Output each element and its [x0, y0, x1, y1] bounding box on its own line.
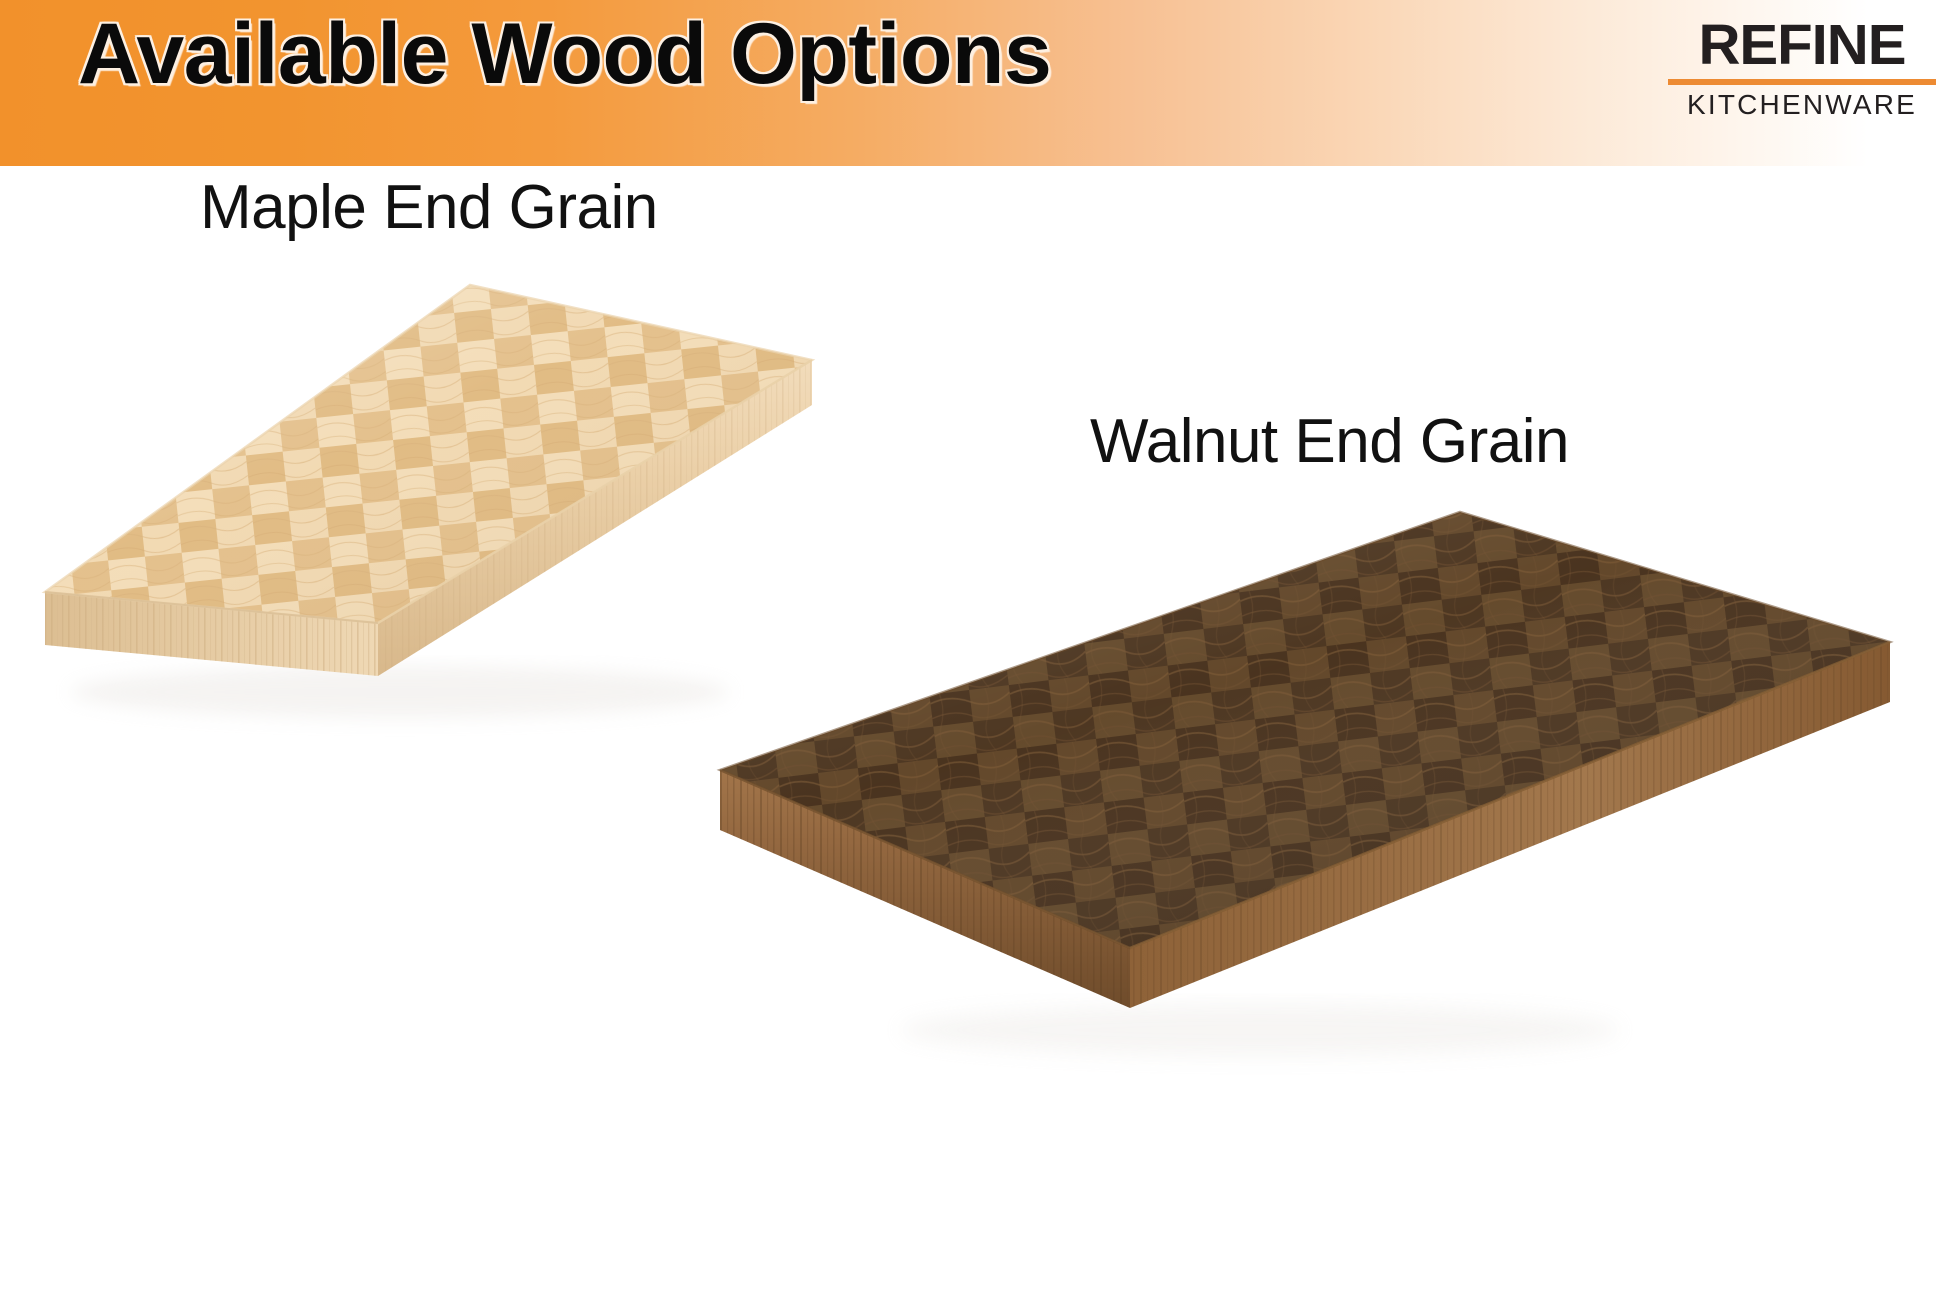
page-title: Available Wood Options	[78, 8, 1051, 101]
logo-divider-rule	[1668, 79, 1936, 85]
maple-product-label: Maple End Grain	[200, 172, 658, 243]
logo-tagline-text: KITCHENWARE	[1666, 91, 1938, 119]
logo-brand-text: REFINE	[1663, 18, 1940, 72]
slide-canvas: Available Wood Options REFINE KITCHENWAR…	[0, 0, 1946, 1297]
walnut-board-illustration	[660, 470, 1946, 1090]
walnut-cutting-board-image	[660, 470, 1946, 1090]
header-banner: Available Wood Options REFINE KITCHENWAR…	[0, 0, 1946, 166]
brand-logo: REFINE KITCHENWARE	[1666, 18, 1938, 119]
walnut-product-label: Walnut End Grain	[1090, 406, 1569, 477]
